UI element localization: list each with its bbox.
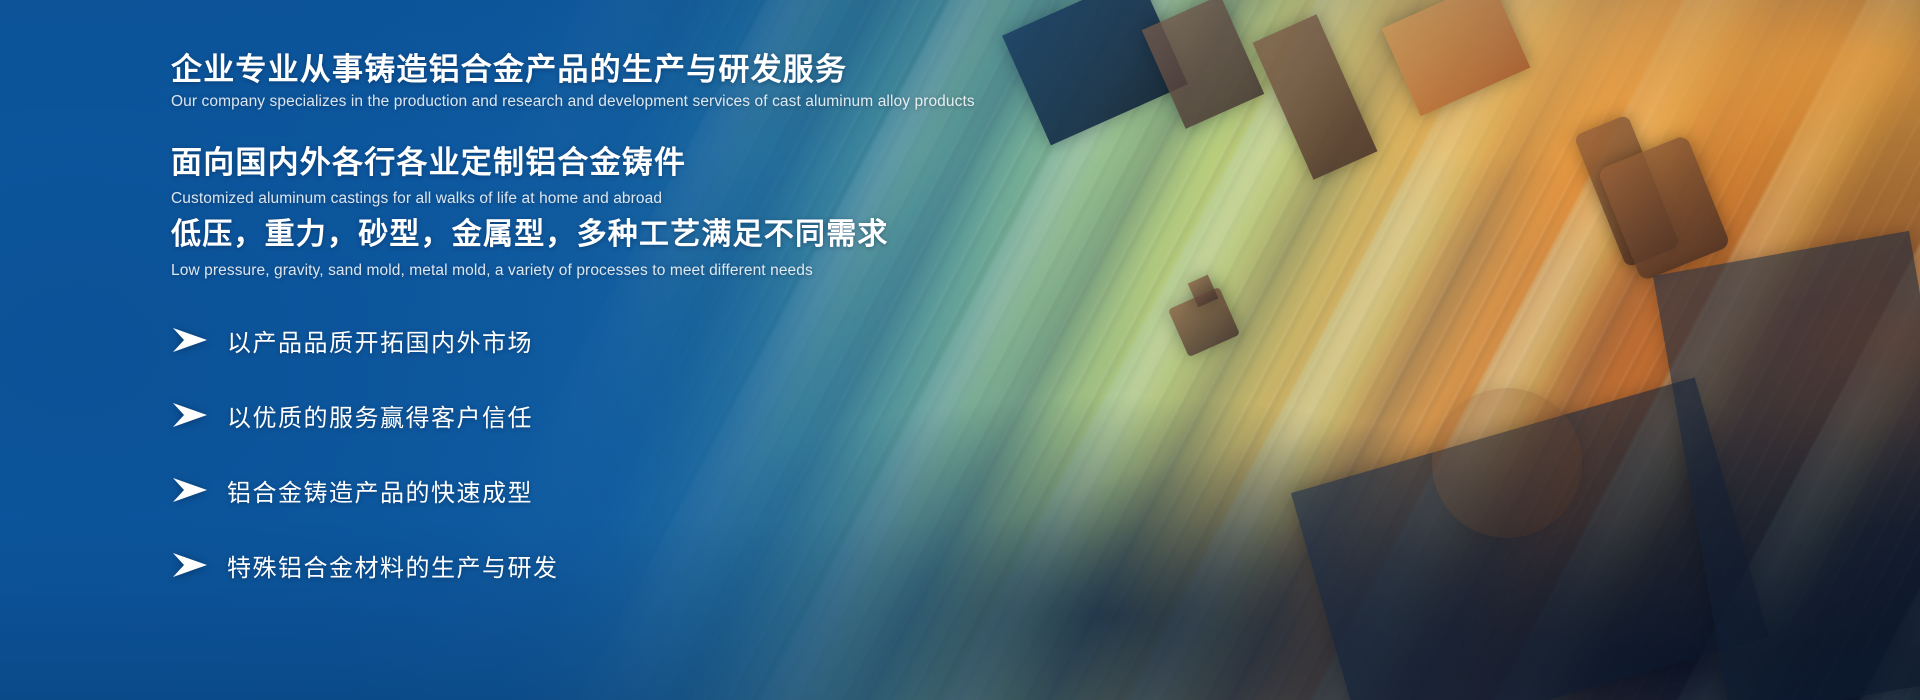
heading-3-cn: 低压，重力，砂型，金属型，多种工艺满足不同需求 — [171, 218, 889, 253]
feature-bullet-list: 以产品品质开拓国内外市场 以优质的服务赢得客户信任 铝合金铸造产品的快速成型 特… — [171, 315, 791, 615]
arrow-right-triangle-icon — [171, 552, 209, 578]
banner-content: 企业专业从事铸造铝合金产品的生产与研发服务 Our company specia… — [171, 0, 1271, 700]
heading-1-en: Our company specializes in the productio… — [171, 93, 975, 112]
arrow-right-triangle-icon — [171, 327, 209, 353]
list-item[interactable]: 以产品品质开拓国内外市场 — [171, 315, 791, 365]
list-item[interactable]: 以优质的服务赢得客户信任 — [171, 390, 791, 440]
list-item-label: 以产品品质开拓国内外市场 — [227, 323, 533, 358]
list-item[interactable]: 铝合金铸造产品的快速成型 — [171, 465, 791, 515]
heading-2-en: Customized aluminum castings for all wal… — [171, 190, 662, 209]
list-item-label: 以优质的服务赢得客户信任 — [227, 398, 533, 433]
arrow-right-triangle-icon — [171, 477, 209, 503]
arrow-right-triangle-icon — [171, 402, 209, 428]
list-item-label: 铝合金铸造产品的快速成型 — [227, 473, 533, 508]
list-item[interactable]: 特殊铝合金材料的生产与研发 — [171, 540, 791, 590]
hero-banner: 企业专业从事铸造铝合金产品的生产与研发服务 Our company specia… — [0, 0, 1920, 700]
heading-1-cn: 企业专业从事铸造铝合金产品的生产与研发服务 — [171, 52, 847, 88]
heading-3-en: Low pressure, gravity, sand mold, metal … — [171, 262, 813, 281]
list-item-label: 特殊铝合金材料的生产与研发 — [227, 548, 559, 583]
heading-2-cn: 面向国内外各行各业定制铝合金铸件 — [171, 145, 686, 181]
